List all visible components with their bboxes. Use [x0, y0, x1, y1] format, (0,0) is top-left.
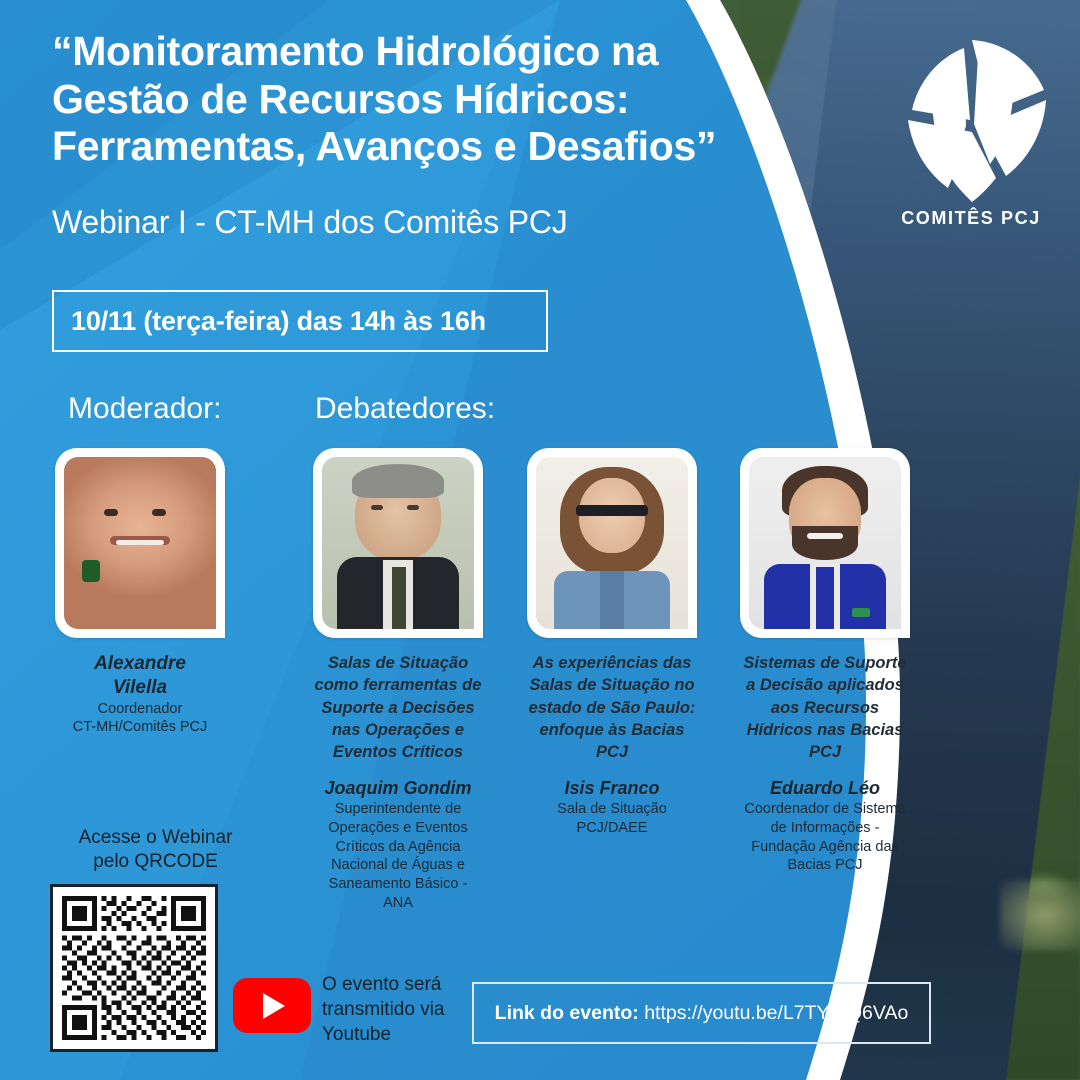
webinar-poster: COMITÊS PCJ “Monitoramento Hidrológico n… [0, 0, 1080, 1080]
youtube-icon[interactable] [233, 978, 311, 1033]
debater-photo-frame [313, 448, 483, 638]
moderator-section-label: Moderador: [68, 392, 221, 426]
moderator-role: Coordenador CT-MH/Comitês PCJ [55, 700, 225, 738]
debater-role: Coordenador de Sistema de Informações - … [740, 800, 910, 875]
page-title: “Monitoramento Hidrológico na Gestão de … [52, 28, 732, 171]
title-line-2: Gestão de Recursos Hídricos: [52, 76, 732, 124]
moderator-card: Alexandre Vilella Coordenador CT-MH/Comi… [55, 448, 225, 737]
debater-avatar [749, 457, 901, 629]
debater-avatar [322, 457, 474, 629]
debater-role: Sala de Situação PCJ/DAEE [527, 800, 697, 838]
debater-role: Superintendente de Operações e Eventos C… [313, 800, 483, 913]
youtube-note: O evento será transmitido via Youtube [322, 972, 462, 1047]
debater-caption: Salas de Situação como ferramentas de Su… [313, 652, 483, 913]
qrcode-box[interactable] [50, 884, 218, 1052]
event-link-text[interactable]: Link do evento: https://youtu.be/L7TYXlQ… [495, 1002, 909, 1025]
debater-name: Isis Franco [527, 777, 697, 800]
debater-caption: As experiências das Salas de Situação no… [527, 652, 697, 838]
title-line-1: “Monitoramento Hidrológico na [52, 28, 732, 76]
debater-avatar [536, 457, 688, 629]
event-link-box[interactable]: Link do evento: https://youtu.be/L7TYXlQ… [472, 982, 931, 1044]
debater-name: Eduardo Léo [740, 777, 910, 800]
moderator-photo-frame [55, 448, 225, 638]
event-link-prefix: Link do evento: [495, 1002, 645, 1024]
debater-topic: Salas de Situação como ferramentas de Su… [313, 652, 483, 763]
debater-caption: Sistemas de Suporte a Decisão aplicados … [740, 652, 910, 875]
comites-pcj-logo-icon [886, 28, 1056, 228]
debater-name: Joaquim Gondim [313, 777, 483, 800]
debater-card: As experiências das Salas de Situação no… [527, 448, 697, 838]
moderator-caption: Alexandre Vilella Coordenador CT-MH/Comi… [55, 652, 225, 737]
date-badge: 10/11 (terça-feira) das 14h às 16h [52, 290, 548, 352]
debater-photo-frame [740, 448, 910, 638]
date-badge-text: 10/11 (terça-feira) das 14h às 16h [71, 306, 486, 337]
debater-topic: As experiências das Salas de Situação no… [527, 652, 697, 763]
logo-label: COMITÊS PCJ [886, 208, 1056, 229]
moderator-avatar [64, 457, 216, 629]
page-subtitle: Webinar I - CT-MH dos Comitês PCJ [52, 204, 752, 241]
debater-photo-frame [527, 448, 697, 638]
debater-topic: Sistemas de Suporte a Decisão aplicados … [740, 652, 910, 763]
debater-card: Sistemas de Suporte a Decisão aplicados … [740, 448, 910, 875]
debaters-section-label: Debatedores: [315, 392, 495, 426]
moderator-name: Alexandre Vilella [55, 652, 225, 700]
event-link-url[interactable]: https://youtu.be/L7TYXlQ6VAo [644, 1002, 908, 1024]
debater-card: Salas de Situação como ferramentas de Su… [313, 448, 483, 913]
qr-code-icon[interactable] [62, 896, 206, 1040]
title-line-3: Ferramentas, Avanços e Desafios” [52, 123, 732, 171]
qrcode-label: Acesse o Webinar pelo QRCODE [48, 826, 263, 875]
